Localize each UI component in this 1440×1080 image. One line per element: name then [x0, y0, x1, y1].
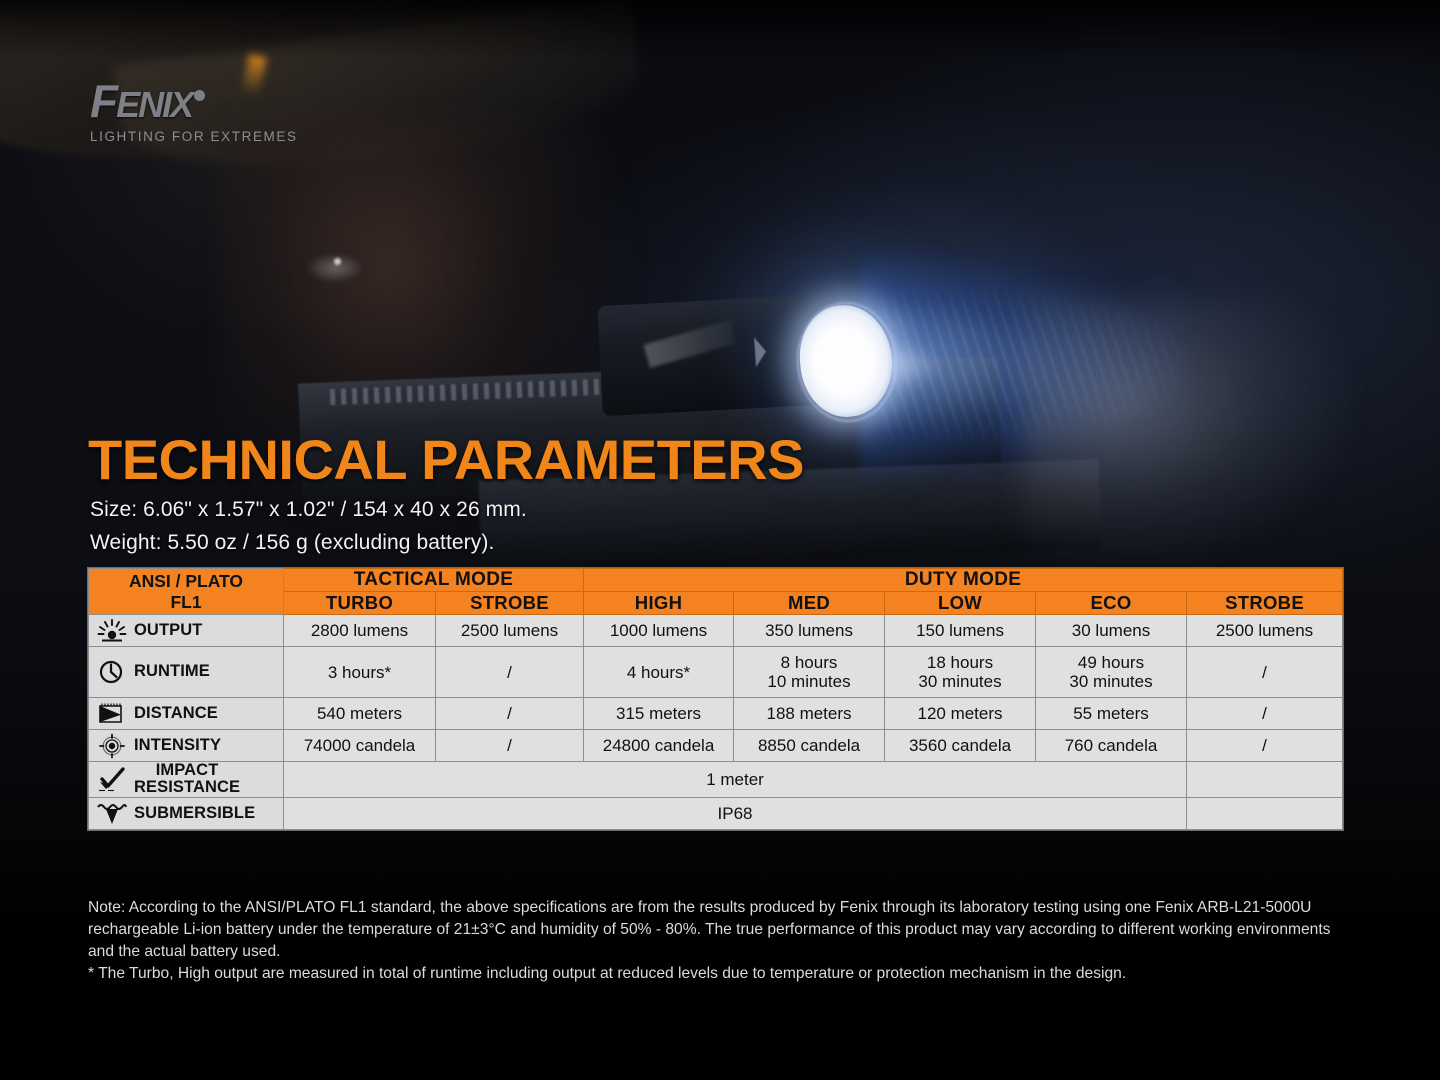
cell-output-strobe-tac: 2500 lumens: [436, 615, 584, 647]
row-label-runtime: RUNTIME: [89, 647, 284, 698]
cell-distance-med: 188 meters: [734, 698, 885, 730]
cell-output-eco: 30 lumens: [1036, 615, 1187, 647]
footnote-asterisk: * The Turbo, High output are measured in…: [88, 963, 1350, 985]
footnotes: Note: According to the ANSI/PLATO FL1 st…: [88, 897, 1350, 986]
eye-glint: [334, 258, 341, 265]
cell-runtime-strobe-tac: /: [436, 647, 584, 698]
cell-output-med: 350 lumens: [734, 615, 885, 647]
footnote-ansi-standard: Note: According to the ANSI/PLATO FL1 st…: [88, 897, 1350, 963]
impact-resistance-icon: [97, 766, 127, 792]
column-header-low: LOW: [885, 592, 1036, 615]
cell-intensity-low: 3560 candela: [885, 730, 1036, 762]
row-label-text: IMPACT RESISTANCE: [134, 762, 240, 797]
submersible-icon: [97, 800, 127, 826]
table-corner-label: ANSI / PLATO FL1: [89, 569, 284, 615]
flashlight-play-glyph: [754, 335, 790, 367]
impact-label-line2: RESISTANCE: [134, 778, 240, 796]
clock-icon: [97, 659, 127, 685]
cell-submersible-value: IP68: [284, 797, 1187, 829]
row-label-text: SUBMERSIBLE: [134, 805, 255, 822]
logo-dot-icon: [194, 90, 205, 101]
cell-distance-eco: 55 meters: [1036, 698, 1187, 730]
cell-intensity-high: 24800 candela: [584, 730, 734, 762]
logo-wordmark: FENIX: [90, 78, 298, 124]
row-label-submersible: SUBMERSIBLE: [89, 797, 284, 829]
table-row: DISTANCE 540 meters / 315 meters 188 met…: [89, 698, 1343, 730]
cell-runtime-eco: 49 hours 30 minutes: [1036, 647, 1187, 698]
column-header-med: MED: [734, 592, 885, 615]
table-row: RUNTIME 3 hours* / 4 hours* 8 hours 10 m…: [89, 647, 1343, 698]
cell-runtime-med: 8 hours 10 minutes: [734, 647, 885, 698]
fenix-logo: FENIX LIGHTING FOR EXTREMES: [90, 78, 298, 144]
table-row: INTENSITY 74000 candela / 24800 candela …: [89, 730, 1343, 762]
corner-label-line2: FL1: [89, 592, 283, 612]
cell-impact-resistance-value: 1 meter: [284, 762, 1187, 798]
table-row: IMPACT RESISTANCE 1 meter: [89, 762, 1343, 798]
cell-intensity-eco: 760 candela: [1036, 730, 1187, 762]
column-header-strobe-tac: STROBE: [436, 592, 584, 615]
cell-intensity-strobe-duty: /: [1187, 730, 1343, 762]
spec-size-line: Size: 6.06" x 1.57" x 1.02" / 154 x 40 x…: [90, 498, 527, 522]
cell-distance-turbo: 540 meters: [284, 698, 436, 730]
group-header-duty: DUTY MODE: [584, 569, 1343, 592]
cell-output-high: 1000 lumens: [584, 615, 734, 647]
logo-letters-enix: ENIX: [116, 84, 192, 125]
logo-letter-f: F: [90, 75, 116, 127]
cell-distance-high: 315 meters: [584, 698, 734, 730]
row-label-distance: DISTANCE: [89, 698, 284, 730]
technical-parameters-table: ANSI / PLATO FL1 TACTICAL MODE DUTY MODE…: [88, 568, 1343, 830]
cell-runtime-low: 18 hours 30 minutes: [885, 647, 1036, 698]
column-header-strobe-duty: STROBE: [1187, 592, 1343, 615]
cell-output-turbo: 2800 lumens: [284, 615, 436, 647]
cell-runtime-turbo: 3 hours*: [284, 647, 436, 698]
cell-submersible-strobe: [1187, 797, 1343, 829]
cell-intensity-turbo: 74000 candela: [284, 730, 436, 762]
table-row: SUBMERSIBLE IP68: [89, 797, 1343, 829]
row-label-text: INTENSITY: [134, 737, 221, 754]
table-row: OUTPUT 2800 lumens 2500 lumens 1000 lume…: [89, 615, 1343, 647]
cell-distance-strobe-duty: /: [1187, 698, 1343, 730]
logo-tagline: LIGHTING FOR EXTREMES: [90, 129, 298, 144]
row-label-text: RUNTIME: [134, 663, 210, 680]
cell-impact-resistance-strobe: [1187, 762, 1343, 798]
cell-distance-strobe-tac: /: [436, 698, 584, 730]
row-label-impact-resistance: IMPACT RESISTANCE: [89, 762, 284, 798]
target-intensity-icon: [97, 733, 127, 759]
cell-runtime-high: 4 hours*: [584, 647, 734, 698]
eye-shape: [300, 250, 370, 286]
row-label-output: OUTPUT: [89, 615, 284, 647]
row-label-text: OUTPUT: [134, 622, 202, 639]
atmospheric-mist: [1020, 300, 1350, 560]
cell-intensity-strobe-tac: /: [436, 730, 584, 762]
column-header-high: HIGH: [584, 592, 734, 615]
top-vignette: [0, 0, 1440, 60]
cell-distance-low: 120 meters: [885, 698, 1036, 730]
corner-label-line1: ANSI / PLATO: [89, 571, 283, 591]
page-title: TECHNICAL PARAMETERS: [88, 432, 804, 488]
row-label-text: DISTANCE: [134, 705, 218, 722]
spec-weight-line: Weight: 5.50 oz / 156 g (excluding batte…: [90, 531, 494, 555]
column-header-eco: ECO: [1036, 592, 1187, 615]
row-label-intensity: INTENSITY: [89, 730, 284, 762]
cell-output-strobe-duty: 2500 lumens: [1187, 615, 1343, 647]
table-group-header-row: ANSI / PLATO FL1 TACTICAL MODE DUTY MODE: [89, 569, 1343, 592]
impact-label-line1: IMPACT: [156, 761, 219, 779]
column-header-turbo: TURBO: [284, 592, 436, 615]
sun-burst-icon: [97, 618, 127, 644]
cell-output-low: 150 lumens: [885, 615, 1036, 647]
cell-intensity-med: 8850 candela: [734, 730, 885, 762]
cell-runtime-strobe-duty: /: [1187, 647, 1343, 698]
group-header-tactical: TACTICAL MODE: [284, 569, 584, 592]
beam-distance-icon: [97, 701, 127, 727]
